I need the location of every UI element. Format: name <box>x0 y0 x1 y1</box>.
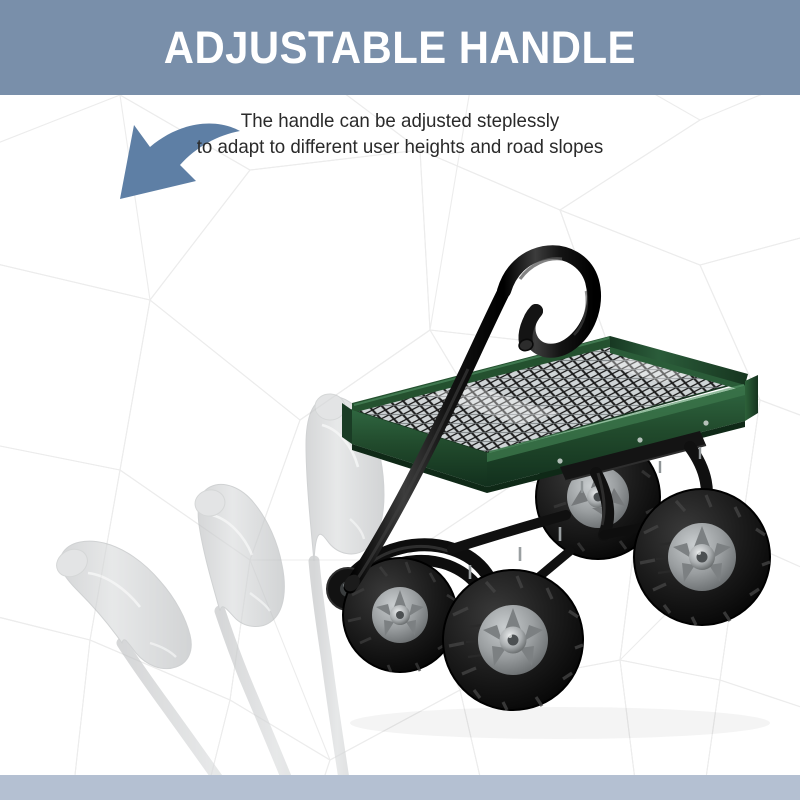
page-title: ADJUSTABLE HANDLE <box>164 25 636 70</box>
footer-band <box>0 775 800 800</box>
infographic-page: ADJUSTABLE HANDLE The handle can be adju… <box>0 0 800 800</box>
cart-wheel-rear-near <box>634 489 770 625</box>
header-band: ADJUSTABLE HANDLE <box>0 0 800 95</box>
product-illustration <box>0 95 800 775</box>
subtitle-block: The handle can be adjusted steplessly to… <box>0 108 800 160</box>
subtitle-line-1: The handle can be adjusted steplessly <box>16 108 784 134</box>
ghost-handle-lowest <box>52 541 352 775</box>
cart-wheel-front-near <box>443 570 583 710</box>
subtitle-line-2: to adapt to different user heights and r… <box>16 134 784 160</box>
